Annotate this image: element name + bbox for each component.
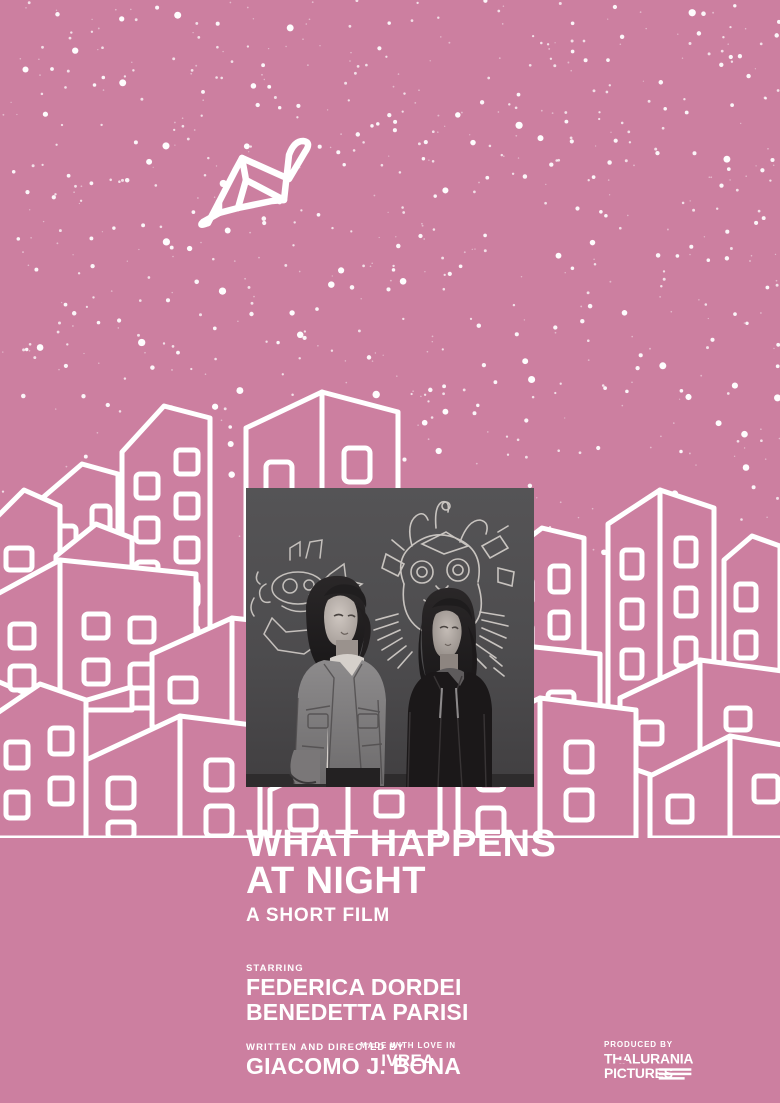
page-title: WHAT HAPPENS AT NIGHT — [246, 826, 716, 900]
produced-label: PRODUCED BY — [604, 1039, 724, 1050]
starring-credits: STARRING FEDERICA DORDEI BENEDETTA PARIS… — [246, 962, 716, 1025]
made-in-block: MADE WITH LOVE IN IVREA — [348, 1040, 468, 1070]
producer-block: PRODUCED BY THALURANIA PICTURES — [604, 1039, 724, 1083]
made-label: MADE WITH LOVE IN — [348, 1040, 468, 1051]
thalurania-pictures-logo: THALURANIA PICTURES — [604, 1051, 700, 1083]
starring-name-2: BENEDETTA PARISI — [246, 1000, 716, 1025]
starring-name-1: FEDERICA DORDEI — [246, 975, 716, 1000]
subtitle: A SHORT FILM — [246, 904, 716, 928]
made-place: IVREA — [348, 1051, 468, 1070]
film-still-photo — [246, 488, 534, 787]
title-line-2: AT NIGHT — [246, 863, 716, 900]
title-line-1: WHAT HAPPENS — [246, 823, 556, 865]
logo-bars — [659, 1068, 692, 1079]
paper-airplane-icon — [186, 128, 326, 243]
movie-poster: WHAT HAPPENS AT NIGHT A SHORT FILM STARR… — [0, 0, 780, 1103]
two-women-mural-photo — [246, 488, 534, 787]
